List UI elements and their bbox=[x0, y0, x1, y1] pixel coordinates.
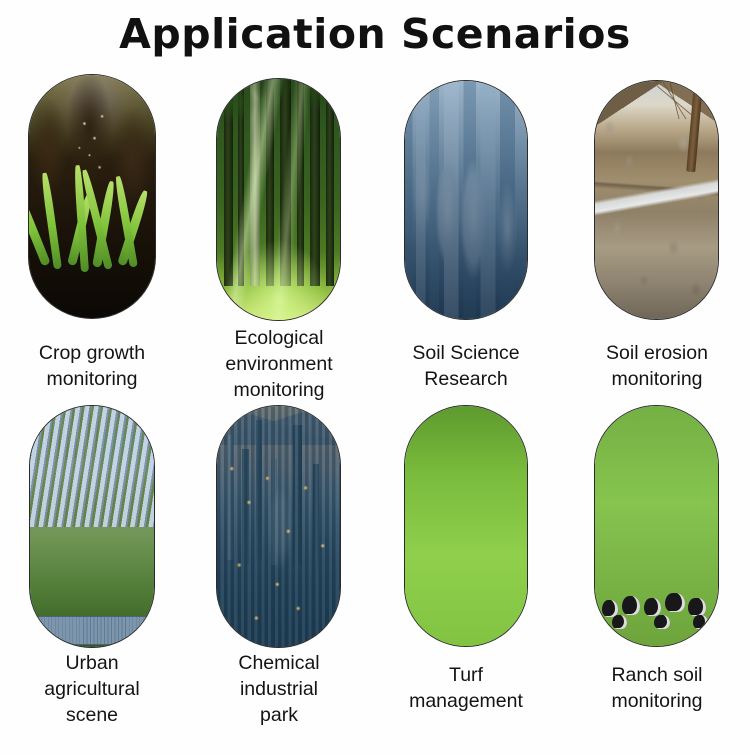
scenario-card-ecological-environment-monitoring[interactable] bbox=[216, 78, 341, 321]
scenario-caption-crop-growth-monitoring: Crop growth monitoring bbox=[8, 340, 176, 392]
scenario-image-lawn-poplars bbox=[404, 405, 528, 647]
page-title: Application Scenarios bbox=[0, 10, 750, 58]
scenario-image-lab-clean-room-blue bbox=[404, 80, 528, 320]
caption-line: industrial bbox=[196, 676, 362, 702]
caption-line: Research bbox=[388, 366, 544, 392]
scenario-image-crop-seedlings-sunlight bbox=[28, 74, 156, 319]
scenario-image-pasture-cows bbox=[594, 405, 719, 647]
caption-line: Urban bbox=[6, 650, 178, 676]
caption-line: park bbox=[196, 702, 362, 728]
scenario-image-erosion-gully-bare-tree bbox=[594, 80, 719, 320]
scenario-card-urban-agricultural-scene[interactable] bbox=[29, 405, 155, 648]
caption-line: Chemical bbox=[196, 650, 362, 676]
scenario-caption-urban-agricultural-scene: Urban agricultural scene bbox=[6, 650, 178, 728]
caption-line: monitoring bbox=[8, 366, 176, 392]
caption-line: management bbox=[386, 688, 546, 714]
scenario-card-soil-science-research[interactable] bbox=[404, 80, 528, 320]
caption-line: monitoring bbox=[578, 688, 736, 714]
scenario-card-ranch-soil-monitoring[interactable] bbox=[594, 405, 719, 647]
scenario-card-soil-erosion-monitoring[interactable] bbox=[594, 80, 719, 320]
caption-line: environment bbox=[198, 351, 360, 377]
scenario-caption-ecological-environment-monitoring: Ecological environment monitoring bbox=[198, 325, 360, 403]
scenario-caption-ranch-soil-monitoring: Ranch soil monitoring bbox=[578, 662, 736, 714]
scenario-caption-soil-science-research: Soil Science Research bbox=[388, 340, 544, 392]
caption-line: Turf bbox=[386, 662, 546, 688]
scenario-card-turf-management[interactable] bbox=[404, 405, 528, 647]
caption-line: Crop growth bbox=[8, 340, 176, 366]
application-scenarios-page: Application Scenarios Crop growth monito… bbox=[0, 0, 750, 755]
caption-line: Soil Science bbox=[388, 340, 544, 366]
caption-line: agricultural bbox=[6, 676, 178, 702]
scenario-image-forest-trunks-sunlight bbox=[216, 78, 341, 321]
scenario-caption-chemical-industrial-park: Chemical industrial park bbox=[196, 650, 362, 728]
caption-line: Ecological bbox=[198, 325, 360, 351]
scenario-card-crop-growth-monitoring[interactable] bbox=[28, 74, 156, 319]
caption-line: Soil erosion bbox=[578, 340, 736, 366]
caption-line: Ranch soil bbox=[578, 662, 736, 688]
scenario-card-chemical-industrial-park[interactable] bbox=[216, 405, 341, 648]
scenario-image-refinery-dusk bbox=[216, 405, 341, 648]
scenario-caption-soil-erosion-monitoring: Soil erosion monitoring bbox=[578, 340, 736, 392]
caption-line: scene bbox=[6, 702, 178, 728]
caption-line: monitoring bbox=[578, 366, 736, 392]
scenario-image-greenhouses-aerial bbox=[29, 405, 155, 648]
caption-line: monitoring bbox=[198, 377, 360, 403]
scenario-caption-turf-management: Turf management bbox=[386, 662, 546, 714]
